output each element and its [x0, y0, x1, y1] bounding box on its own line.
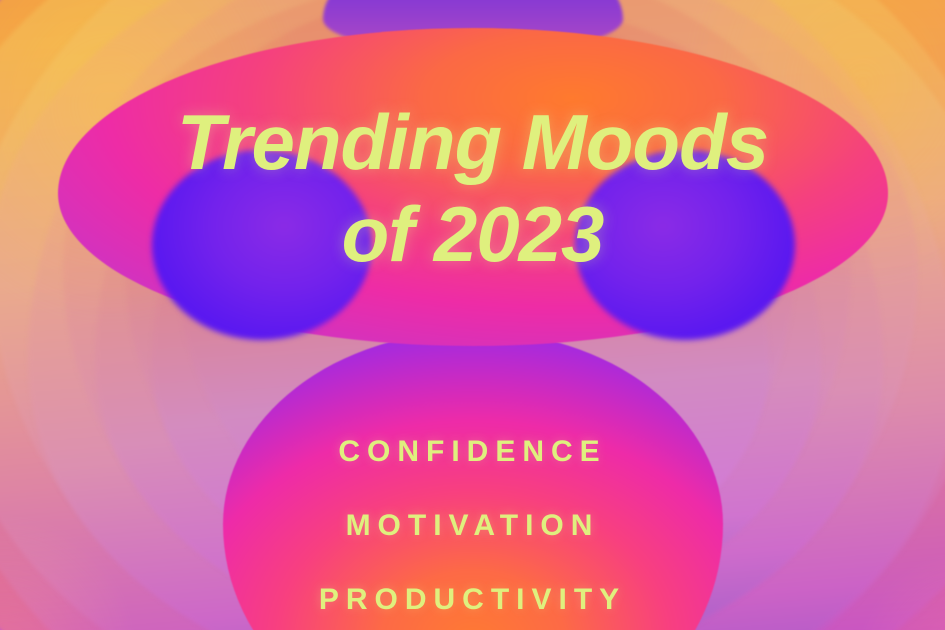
mood-item-motivation: MOTIVATION [0, 489, 945, 563]
mood-item-productivity: PRODUCTIVITY [0, 563, 945, 630]
mood-item-confidence: CONFIDENCE [0, 415, 945, 489]
text-layer: Trending Moods of 2023 CONFIDENCE MOTIVA… [0, 0, 945, 630]
mood-list: CONFIDENCE MOTIVATION PRODUCTIVITY [0, 415, 945, 630]
poster-canvas: Trending Moods of 2023 CONFIDENCE MOTIVA… [0, 0, 945, 630]
poster-title: Trending Moods of 2023 [0, 96, 945, 280]
